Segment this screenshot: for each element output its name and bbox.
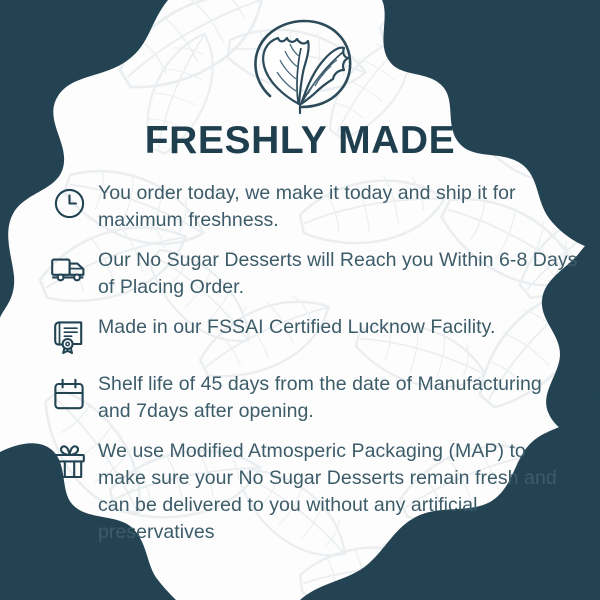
list-item: We use Modified Atmosperic Packaging (MA… [48,438,578,546]
list-item-text: Our No Sugar Desserts will Reach you Wit… [90,247,578,301]
list-item-text: Shelf life of 45 days from the date of M… [90,371,578,425]
list-item: Shelf life of 45 days from the date of M… [48,371,578,425]
freshly-made-infographic: FRESHLY MADE You order today, we make it… [0,0,600,600]
leaf-circle-logo-icon [244,18,356,116]
certificate-icon [48,316,90,358]
list-item-text: We use Modified Atmosperic Packaging (MA… [90,438,578,546]
feature-list: You order today, we make it today and sh… [0,180,600,546]
list-item: Our No Sugar Desserts will Reach you Wit… [48,247,578,301]
clock-icon [48,182,90,224]
delivery-truck-icon [48,249,90,291]
list-item-text: You order today, we make it today and sh… [90,180,578,234]
page-title: FRESHLY MADE [0,118,600,164]
list-item: You order today, we make it today and sh… [48,180,578,234]
brand-logo [0,18,600,118]
gift-icon [48,440,90,482]
list-item-text: Made in our FSSAI Certified Lucknow Faci… [90,314,578,341]
calendar-icon [48,373,90,415]
list-item: Made in our FSSAI Certified Lucknow Faci… [48,314,578,358]
